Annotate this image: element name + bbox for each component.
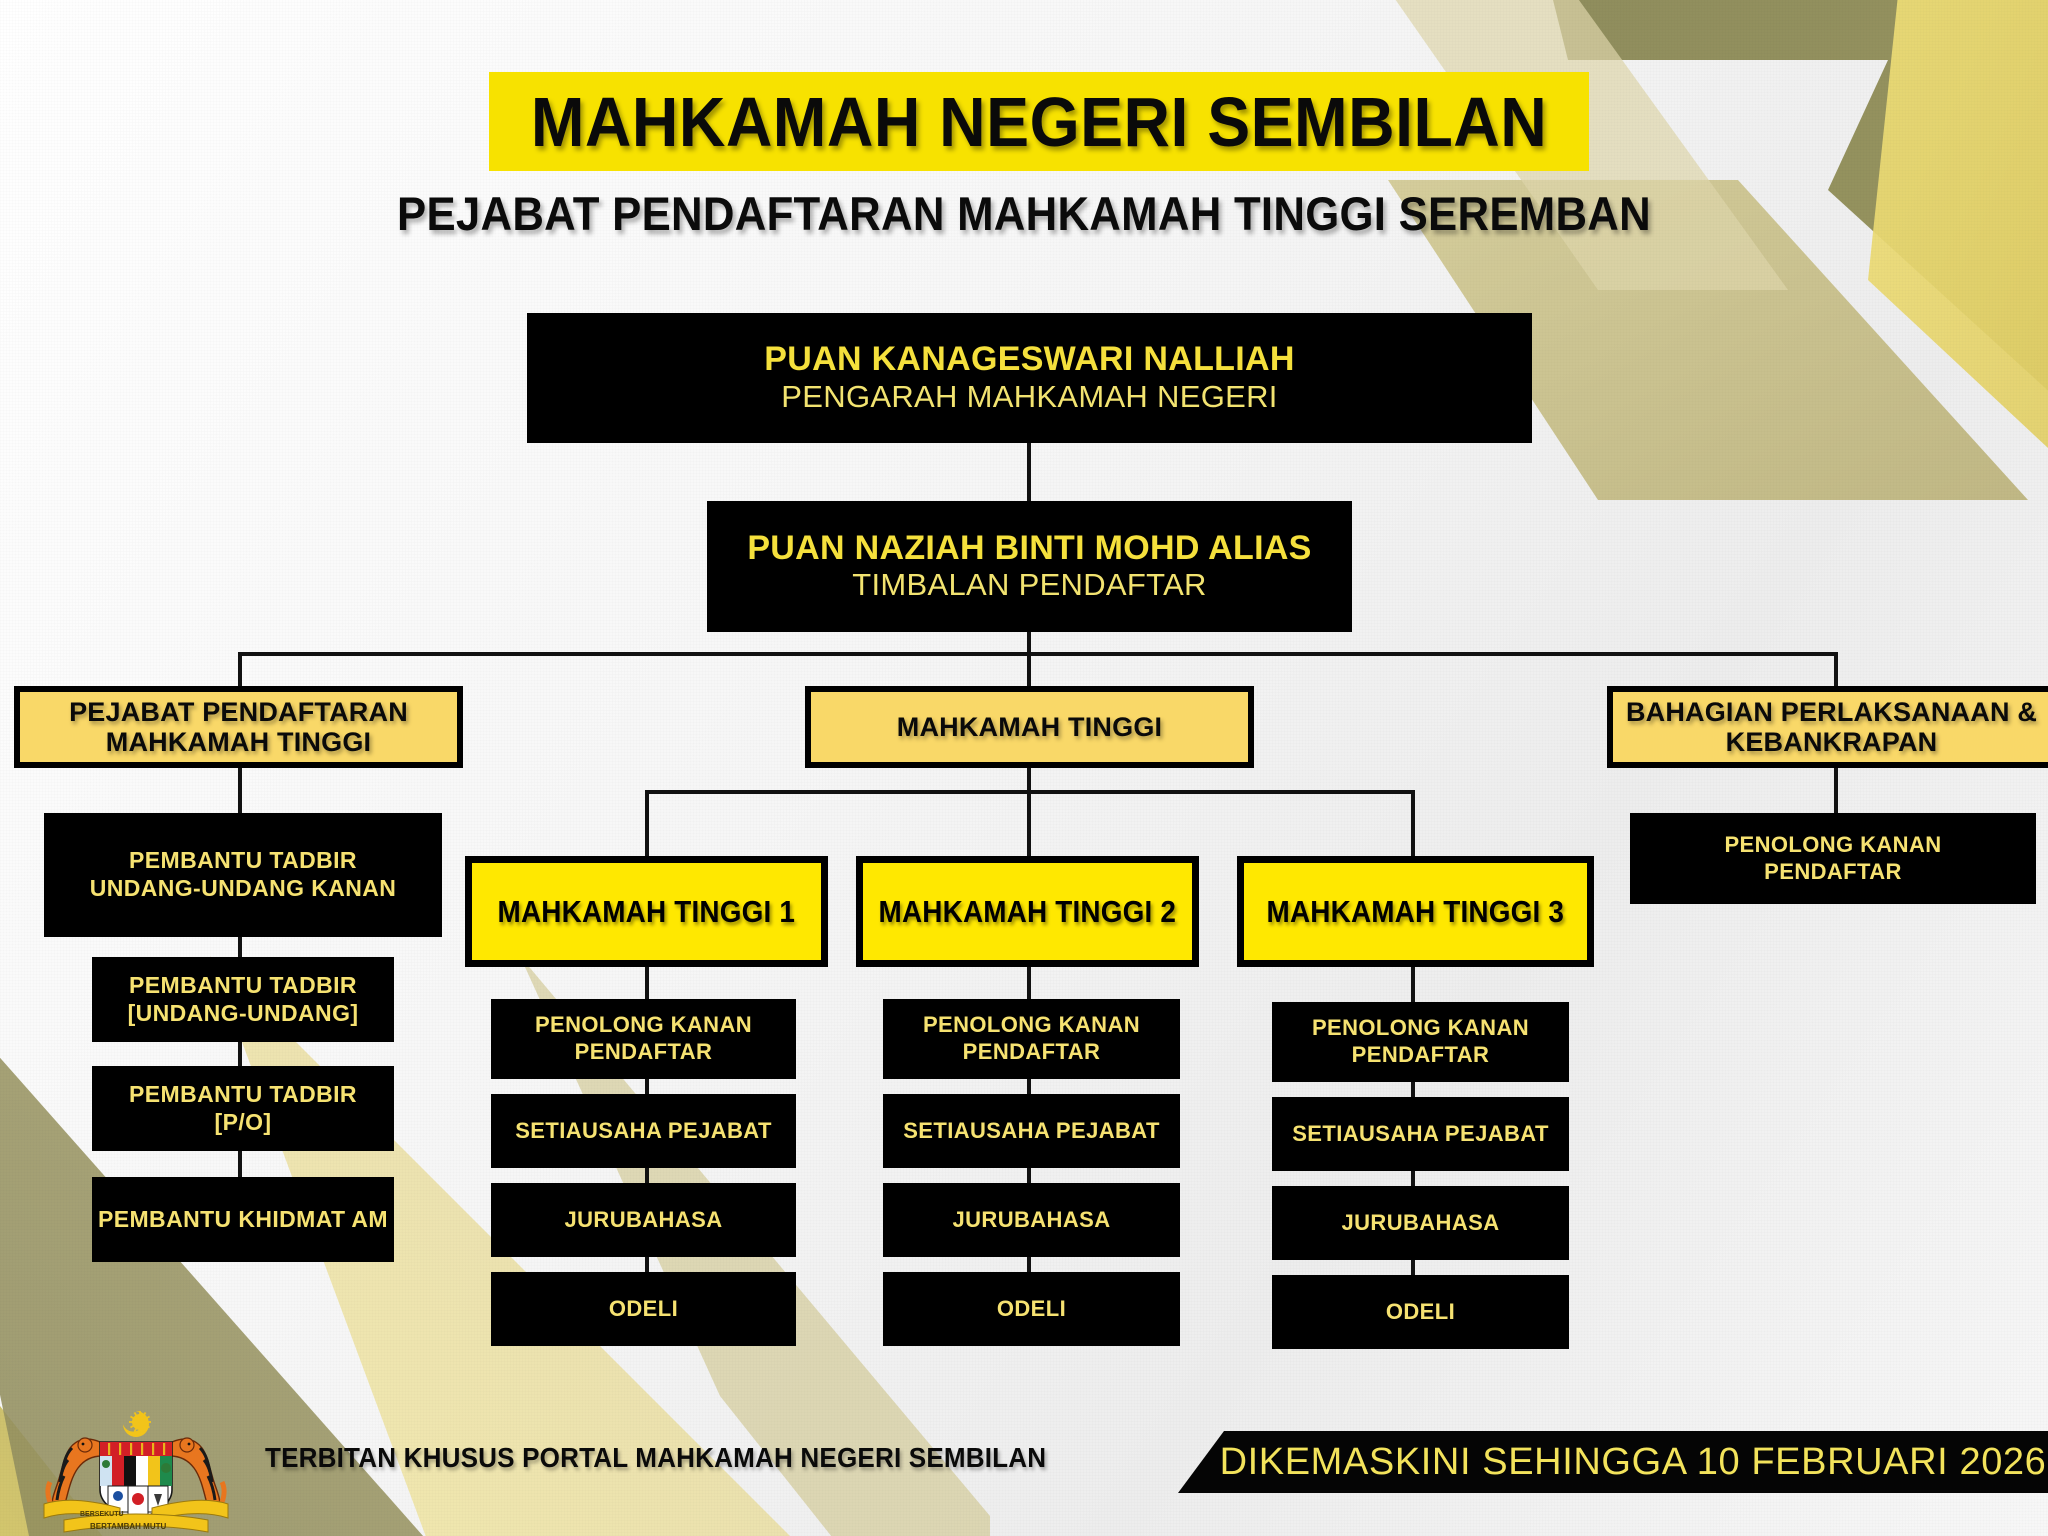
staff-label-line1: SETIAUSAHA PEJABAT [903,1118,1160,1145]
staff-label-line1: PENOLONG KANAN [923,1012,1140,1039]
staff-court3-jurubahasa[interactable]: JURUBAHASA [1272,1186,1569,1260]
node-pembantu-khidmat-am[interactable]: PEMBANTU KHIDMAT AM [92,1177,394,1262]
node-label-line1: PEMBANTU TADBIR [129,1081,357,1109]
connector-court1-3-4 [645,1257,649,1272]
staff-label-line2: PENDAFTAR [1352,1042,1490,1069]
staff-court3-penolong-kanan-pendaftar[interactable]: PENOLONG KANAN PENDAFTAR [1272,1002,1569,1082]
division-label-line2: MAHKAMAH TINGGI [106,727,371,757]
emblem-motto-bottom: BERTAMBAH MUTU [90,1522,167,1531]
emblem-motto-top: BERSEKUTU [80,1511,124,1518]
connector-court2-1-2 [1027,1079,1031,1094]
staff-label-line2: PENDAFTAR [963,1039,1101,1066]
division-label-line2: KEBANKRAPAN [1726,727,1938,757]
connector-court3-3-4 [1411,1260,1415,1275]
node-label-line1: PENOLONG KANAN [1724,832,1941,859]
staff-label-line1: JURUBAHASA [564,1207,722,1234]
staff-label-line1: SETIAUSAHA PEJABAT [1292,1121,1549,1148]
connector-center-division-down [1027,768,1031,792]
staff-label-line1: SETIAUSAHA PEJABAT [515,1118,772,1145]
staff-court1-penolong-kanan-pendaftar[interactable]: PENOLONG KANAN PENDAFTAR [491,999,796,1079]
staff-label-line1: JURUBAHASA [1341,1210,1499,1237]
connector-left-3-4 [238,1151,242,1177]
connector-bus-to-court-1 [645,790,649,856]
connector-left-division-down [238,768,242,813]
staff-court3-odeli[interactable]: ODELI [1272,1275,1569,1349]
staff-court1-jurubahasa[interactable]: JURUBAHASA [491,1183,796,1257]
node-label-line2: [UNDANG-UNDANG] [128,1000,359,1028]
connector-left-2-3 [238,1042,242,1066]
staff-label-line1: ODELI [609,1296,678,1323]
connector-left-1-2 [238,937,242,957]
court-mahkamah-tinggi-2[interactable]: MAHKAMAH TINGGI 2 [856,856,1199,967]
node-label-line2: PENDAFTAR [1764,859,1902,886]
staff-court2-setiausaha-pejabat[interactable]: SETIAUSAHA PEJABAT [883,1094,1180,1168]
node-label-line2: UNDANG-UNDANG KANAN [90,875,397,903]
node-right-penolong-kanan-pendaftar[interactable]: PENOLONG KANAN PENDAFTAR [1630,813,2036,904]
connector-court1-1-2 [645,1079,649,1094]
connector-bus-to-court-2 [1027,790,1031,856]
node-pembantu-tadbir-po[interactable]: PEMBANTU TADBIR [P/O] [92,1066,394,1151]
connector-court2-down [1027,967,1031,999]
staff-label-line1: PENOLONG KANAN [1312,1015,1529,1042]
court-label: MAHKAMAH TINGGI 2 [879,894,1177,930]
page-subtitle: PEJABAT PENDAFTARAN MAHKAMAH TINGGI SERE… [72,186,1977,241]
staff-label-line1: ODELI [1386,1299,1455,1326]
footer-update-badge: DIKEMASKINI SEHINGGA 10 FEBRUARI 2026 [1178,1431,2048,1493]
staff-court2-odeli[interactable]: ODELI [883,1272,1180,1346]
footer-update-text: DIKEMASKINI SEHINGGA 10 FEBRUARI 2026 [1178,1431,2048,1493]
connector-division-bus [238,652,1838,656]
staff-label-line1: ODELI [997,1296,1066,1323]
node-pembantu-tadbir-uu-kanan[interactable]: PEMBANTU TADBIR UNDANG-UNDANG KANAN [44,813,442,937]
staff-court1-setiausaha-pejabat[interactable]: SETIAUSAHA PEJABAT [491,1094,796,1168]
node-label-line1: PEMBANTU TADBIR [129,972,357,1000]
connector-right-division-down [1834,768,1838,813]
staff-label-line2: PENDAFTAR [575,1039,713,1066]
deputy-role: TIMBALAN PENDAFTAR [852,568,1206,602]
division-label-line1: MAHKAMAH TINGGI [897,712,1162,742]
deputy-name: PUAN NAZIAH BINTI MOHD ALIAS [747,531,1311,567]
connector-bus-to-left-division [238,652,242,688]
node-pembantu-tadbir-uu[interactable]: PEMBANTU TADBIR [UNDANG-UNDANG] [92,957,394,1042]
connector-court3-down [1411,967,1415,1002]
node-label-line1: PEMBANTU TADBIR [129,847,357,875]
court-mahkamah-tinggi-3[interactable]: MAHKAMAH TINGGI 3 [1237,856,1594,967]
court-mahkamah-tinggi-1[interactable]: MAHKAMAH TINGGI 1 [465,856,828,967]
footer-credit: TERBITAN KHUSUS PORTAL MAHKAMAH NEGERI S… [265,1442,1046,1474]
page-title: MAHKAMAH NEGERI SEMBILAN [533,70,1545,174]
director-name: PUAN KANAGESWARI NALLIAH [764,342,1294,378]
connector-director-deputy [1027,443,1031,501]
division-pejabat-pendaftaran[interactable]: PEJABAT PENDAFTARAN MAHKAMAH TINGGI [14,686,463,768]
connector-court1-2-3 [645,1168,649,1183]
staff-court3-setiausaha-pejabat[interactable]: SETIAUSAHA PEJABAT [1272,1097,1569,1171]
staff-court2-jurubahasa[interactable]: JURUBAHASA [883,1183,1180,1257]
connector-court2-3-4 [1027,1257,1031,1272]
division-perlaksanaan-kebankrapan[interactable]: BAHAGIAN PERLAKSANAAN & KEBANKRAPAN [1607,686,2048,768]
node-label-line2: [P/O] [215,1109,272,1137]
tiger-right [170,1438,224,1510]
division-label-line1: PEJABAT PENDAFTARAN [69,697,408,727]
staff-label-line1: JURUBAHASA [952,1207,1110,1234]
staff-court1-odeli[interactable]: ODELI [491,1272,796,1346]
connector-bus-to-right-division [1834,652,1838,688]
connector-court2-2-3 [1027,1168,1031,1183]
poster-canvas: MAHKAMAH NEGERI SEMBILAN PEJABAT PENDAFT… [0,0,2048,1536]
node-director[interactable]: PUAN KANAGESWARI NALLIAH PENGARAH MAHKAM… [527,313,1532,443]
connector-deputy-down [1027,632,1031,654]
connector-bus-to-court-3 [1411,790,1415,856]
node-label-line1: PEMBANTU KHIDMAT AM [98,1206,388,1234]
connector-bus-to-center-division [1027,652,1031,688]
node-deputy[interactable]: PUAN NAZIAH BINTI MOHD ALIAS TIMBALAN PE… [707,501,1352,632]
tiger-left [48,1438,102,1510]
staff-label-line1: PENOLONG KANAN [535,1012,752,1039]
connector-court3-1-2 [1411,1082,1415,1097]
director-role: PENGARAH MAHKAMAH NEGERI [781,380,1277,414]
division-mahkamah-tinggi[interactable]: MAHKAMAH TINGGI [805,686,1254,768]
connector-court3-2-3 [1411,1171,1415,1186]
connector-court1-down [645,967,649,999]
division-label-line1: BAHAGIAN PERLAKSANAAN & [1626,697,2037,727]
malaysia-coat-of-arms-emblem: BERSEKUTU BERTAMBAH MUTU [28,1398,244,1536]
staff-court2-penolong-kanan-pendaftar[interactable]: PENOLONG KANAN PENDAFTAR [883,999,1180,1079]
court-label: MAHKAMAH TINGGI 1 [498,894,796,930]
court-label: MAHKAMAH TINGGI 3 [1267,894,1565,930]
